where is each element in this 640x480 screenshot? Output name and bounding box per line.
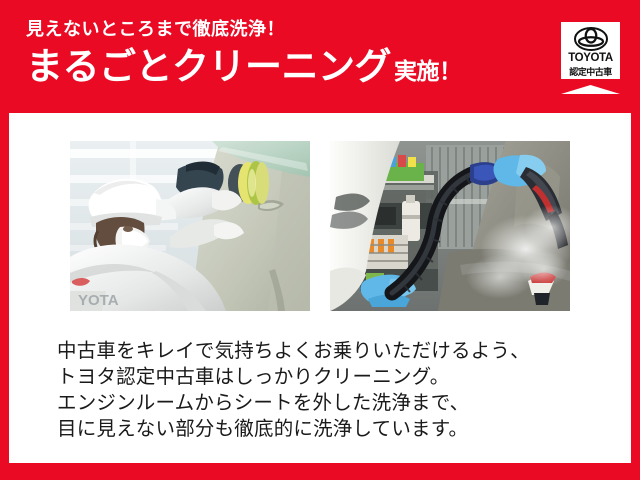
toyota-wordmark: TOYOTA (568, 53, 612, 65)
body-copy-line-2: トヨタ認定中古車はしっかりクリーニング。 (57, 364, 597, 390)
toyota-certified-logo: TOYOTA 認定中古車 (561, 22, 620, 94)
body-copy-line-4: 目に見えない部分も徹底的に洗浄しています。 (57, 416, 597, 442)
body-copy-line-3: エンジンルームからシートを外した洗浄まで、 (57, 390, 597, 416)
toyota-certified-jp-label: 認定中古車 (569, 68, 612, 77)
photo-interior-steam-cleaning (330, 141, 570, 311)
toyota-emblem-icon (574, 27, 608, 51)
body-copy-line-1: 中古車をキレイで気持ちよくお乗りいただけるよう、 (57, 338, 597, 364)
photo-exterior-polishing: YOTA (70, 141, 310, 311)
photo-gallery: YOTA (70, 141, 570, 311)
header-band: 見えないところまで徹底洗浄！ まるごとクリーニング 実施！ TOYOTA 認定中… (0, 0, 640, 113)
header-kicker: 見えないところまで徹底洗浄！ (26, 20, 526, 38)
header-headline-suffix: 実施！ (394, 60, 462, 83)
body-copy: 中古車をキレイで気持ちよくお乗りいただけるよう、 トヨタ認定中古車はしっかりクリ… (57, 338, 597, 442)
header-text-group: 見えないところまで徹底洗浄！ まるごとクリーニング 実施！ (26, 20, 526, 87)
logo-chevron-shape (561, 79, 620, 94)
content-card: YOTA (9, 113, 631, 463)
promo-poster: 見えないところまで徹底洗浄！ まるごとクリーニング 実施！ TOYOTA 認定中… (0, 0, 640, 480)
header-headline-main: まるごとクリーニング (26, 48, 391, 87)
header-headline-row: まるごとクリーニング 実施！ (26, 48, 526, 87)
